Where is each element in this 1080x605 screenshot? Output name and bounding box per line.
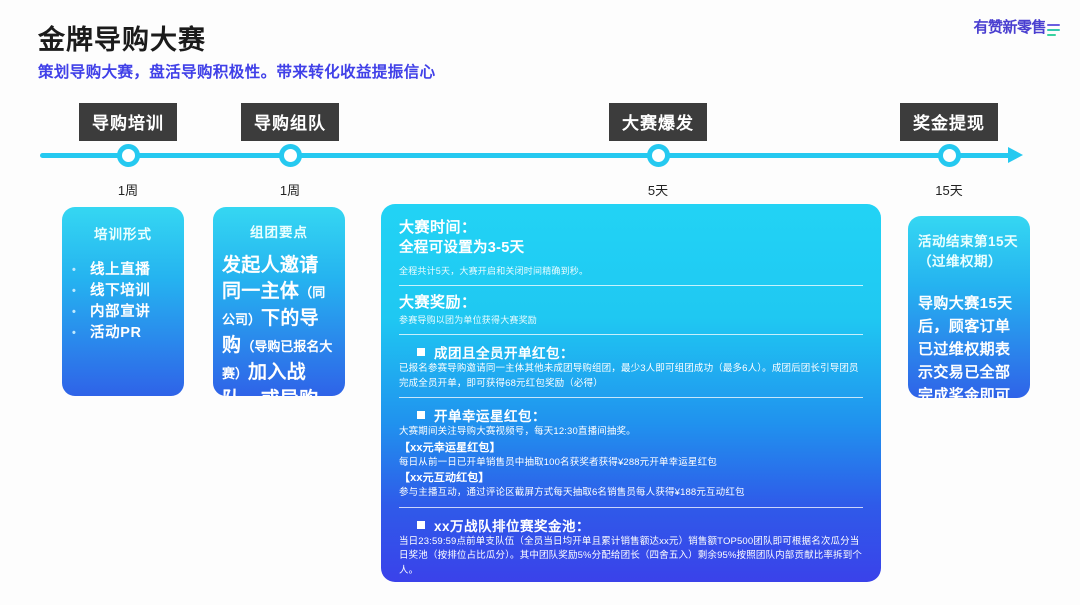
reward-section-line: 已报名参赛导购邀请同一主体其他未成团导购组团，最少3人即可组团成功（最多6人）。… [399,362,863,391]
divider-section-0 [399,397,863,398]
card-team: 组团要点 发起人邀请同一主体（同公司）下的导购（导购已报名大赛）加入战队，或导购… [213,207,345,396]
reward-section-line: 【xx元幸运星红包】 [399,440,863,456]
list-item-label: 线下培训 [90,281,150,302]
timeline-tick-3: 15天 [935,180,962,199]
contest-time-label: 大赛时间： [399,218,863,238]
timeline-badge-1[interactable]: 导购组队 [241,103,339,141]
square-bullet-icon [417,521,425,529]
list-item: •线上直播 [72,260,174,281]
contest-reward-note: 参赛导购以团为单位获得大赛奖励 [399,313,863,328]
reward-section-title: xx万战队排位赛奖金池： [434,515,590,535]
timeline-node-0[interactable] [117,144,140,167]
contest-reward-label: 大赛奖励： [399,293,863,313]
brand-logo-text: 有赞新零售 [973,16,1046,37]
reward-section-line: 每日从前一日已开单销售员中抽取100名获奖者获得¥288元开单幸运星红包 [399,456,863,471]
list-item-label: 线上直播 [90,260,150,281]
bullet-dot-icon: • [72,260,90,281]
reward-section-line: 【xx元互动红包】 [399,470,863,486]
card-withdraw-title-line: （过维权期） [918,254,1002,269]
timeline-tick-1: 1周 [280,180,300,199]
reward-section-1: 开单幸运星红包：大赛期间关注导购大赛视频号，每天12:30直播间抽奖。【xx元幸… [399,405,863,501]
timeline-node-1[interactable] [279,144,302,167]
list-item: •活动PR [72,323,174,344]
timeline-arrow-icon [1008,147,1023,163]
slide-canvas: 金牌导购大赛 策划导购大赛，盘活导购积极性。带来转化收益提振信心 有赞新零售 导… [0,0,1080,605]
card-team-title: 组团要点 [222,221,336,241]
contest-time-note: 全程共计5天，大赛开启和关闭时间精确到秒。 [399,264,863,279]
card-training: 培训形式 •线上直播•线下培训•内部宣讲•活动PR [62,207,184,396]
square-bullet-icon [417,411,425,419]
card-withdraw: 活动结束第15天（过维权期） 导购大赛15天后，顾客订单已过维权期表示交易已全部… [908,216,1030,398]
reward-section-line: 当日23:59:59点前单支队伍（全员当日均开单且累计销售额达xx元）销售额TO… [399,535,863,579]
reward-section-line: 大赛期间关注导购大赛视频号，每天12:30直播间抽奖。 [399,425,863,440]
bullet-dot-icon: • [72,281,90,302]
main-detail-panel: 大赛时间： 全程可设置为3-5天 全程共计5天，大赛开启和关闭时间精确到秒。 大… [381,204,881,582]
reward-section-head: 开单幸运星红包： [399,405,863,425]
card-withdraw-title-line: 活动结束第15天 [918,234,1018,249]
timeline-badge-2[interactable]: 大赛爆发 [609,103,707,141]
reward-section-title: 成团且全员开单红包： [434,342,574,362]
list-item: •线下培训 [72,281,174,302]
reward-section-head: xx万战队排位赛奖金池： [399,515,863,535]
bullet-dot-icon: • [72,302,90,323]
logo-stripes-icon [1047,21,1062,37]
timeline-badge-0[interactable]: 导购培训 [79,103,177,141]
divider-section-1 [399,507,863,508]
page-title: 金牌导购大赛 [38,18,206,57]
list-item-label: 内部宣讲 [90,302,150,323]
card-training-list: •线上直播•线下培训•内部宣讲•活动PR [72,260,174,344]
card-withdraw-body: 导购大赛15天后，顾客订单已过维权期表示交易已全部完成奖金即可提现 [918,292,1020,398]
reward-section-head: 成团且全员开单红包： [399,342,863,362]
card-withdraw-title: 活动结束第15天（过维权期） [918,232,1020,272]
square-bullet-icon [417,348,425,356]
reward-section-title: 开单幸运星红包： [434,405,546,425]
timeline-tick-0: 1周 [118,180,138,199]
reward-section-2: xx万战队排位赛奖金池：当日23:59:59点前单支队伍（全员当日均开单且累计销… [399,515,863,579]
list-item-label: 活动PR [90,323,142,344]
card-training-title: 培训形式 [72,223,174,243]
reward-section-0: 成团且全员开单红包：已报名参赛导购邀请同一主体其他未成团导购组团，最少3人即可组… [399,342,863,391]
reward-sections: 成团且全员开单红包：已报名参赛导购邀请同一主体其他未成团导购组团，最少3人即可组… [399,342,863,582]
divider-1 [399,285,863,286]
card-team-body: 发起人邀请同一主体（同公司）下的导购（导购已报名大赛）加入战队，或导购主动申请加… [222,253,336,396]
contest-time-value: 全程可设置为3-5天 [399,238,863,258]
timeline-badge-3[interactable]: 奖金提现 [900,103,998,141]
divider-2 [399,334,863,335]
bullet-dot-icon: • [72,323,90,344]
timeline-axis [40,153,1015,158]
reward-section-line: 参与主播互动，通过评论区截屏方式每天抽取6名销售员每人获得¥188元互动红包 [399,486,863,501]
timeline-node-2[interactable] [647,144,670,167]
timeline-node-3[interactable] [938,144,961,167]
brand-logo: 有赞新零售 [973,16,1062,37]
list-item: •内部宣讲 [72,302,174,323]
page-subtitle: 策划导购大赛，盘活导购积极性。带来转化收益提振信心 [38,60,436,82]
timeline-tick-2: 5天 [648,180,668,199]
